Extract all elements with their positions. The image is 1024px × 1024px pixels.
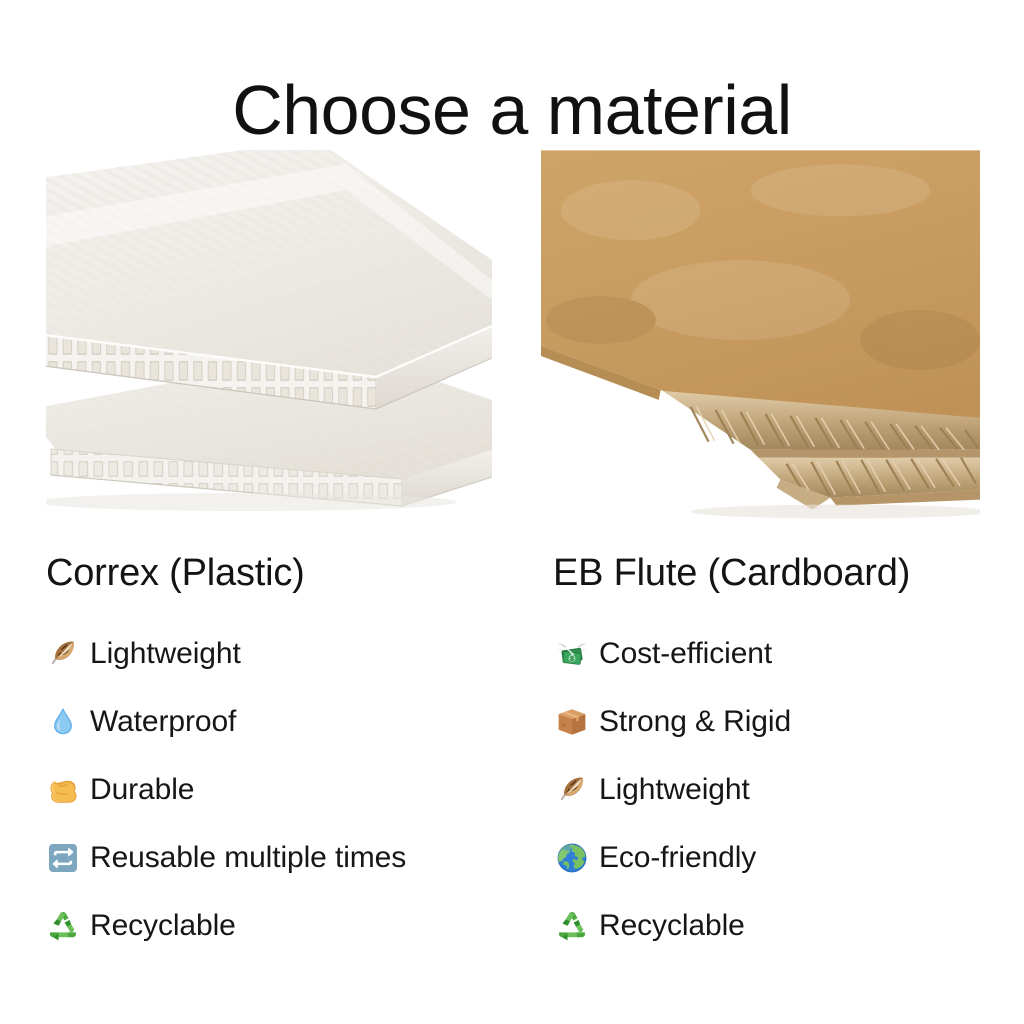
feature-label: Recyclable: [599, 909, 745, 943]
feather-icon: [555, 773, 589, 807]
list-item: Lightweight: [46, 620, 492, 688]
feature-label: Recyclable: [90, 909, 236, 943]
droplet-icon: [46, 705, 80, 739]
correx-photo: [46, 150, 492, 530]
list-item: $ Cost-efficient: [555, 620, 980, 688]
list-item: Strong & Rigid: [555, 688, 980, 756]
feature-label: Reusable multiple times: [90, 841, 406, 875]
feature-label: Strong & Rigid: [599, 705, 791, 739]
list-item: Recyclable: [555, 892, 980, 960]
feature-label: Durable: [90, 773, 194, 807]
feature-label: Cost-efficient: [599, 637, 772, 671]
feature-label: Eco-friendly: [599, 841, 756, 875]
list-item: Eco-friendly: [555, 824, 980, 892]
recycle-icon: [46, 909, 80, 943]
list-item: Reusable multiple times: [46, 824, 492, 892]
biceps-icon: [46, 773, 80, 807]
money-wings-icon: $: [555, 637, 589, 671]
material-chooser-page: Choose a material: [0, 0, 1024, 1024]
feature-label: Lightweight: [599, 773, 750, 807]
globe-icon: [555, 841, 589, 875]
feature-list-eb-flute: $ Cost-efficient: [555, 620, 980, 960]
list-item: Recyclable: [46, 892, 492, 960]
list-item: Waterproof: [46, 688, 492, 756]
material-name-eb-flute: EB Flute (Cardboard): [553, 552, 980, 596]
list-item: Durable: [46, 756, 492, 824]
feature-label: Lightweight: [90, 637, 241, 671]
material-columns: Correx (Plastic) Li: [0, 150, 1024, 976]
package-icon: [555, 705, 589, 739]
page-title: Choose a material: [0, 75, 1024, 145]
repeat-icon: [46, 841, 80, 875]
material-card-correx[interactable]: Correx (Plastic) Li: [0, 150, 512, 976]
feather-icon: [46, 637, 80, 671]
material-card-eb-flute[interactable]: EB Flute (Cardboard): [512, 150, 1024, 976]
eb-flute-photo: [541, 150, 980, 530]
material-name-correx: Correx (Plastic): [46, 552, 492, 596]
list-item: Lightweight: [555, 756, 980, 824]
feature-list-correx: Lightweight Waterproof: [46, 620, 492, 960]
feature-label: Waterproof: [90, 705, 236, 739]
recycle-icon: [555, 909, 589, 943]
